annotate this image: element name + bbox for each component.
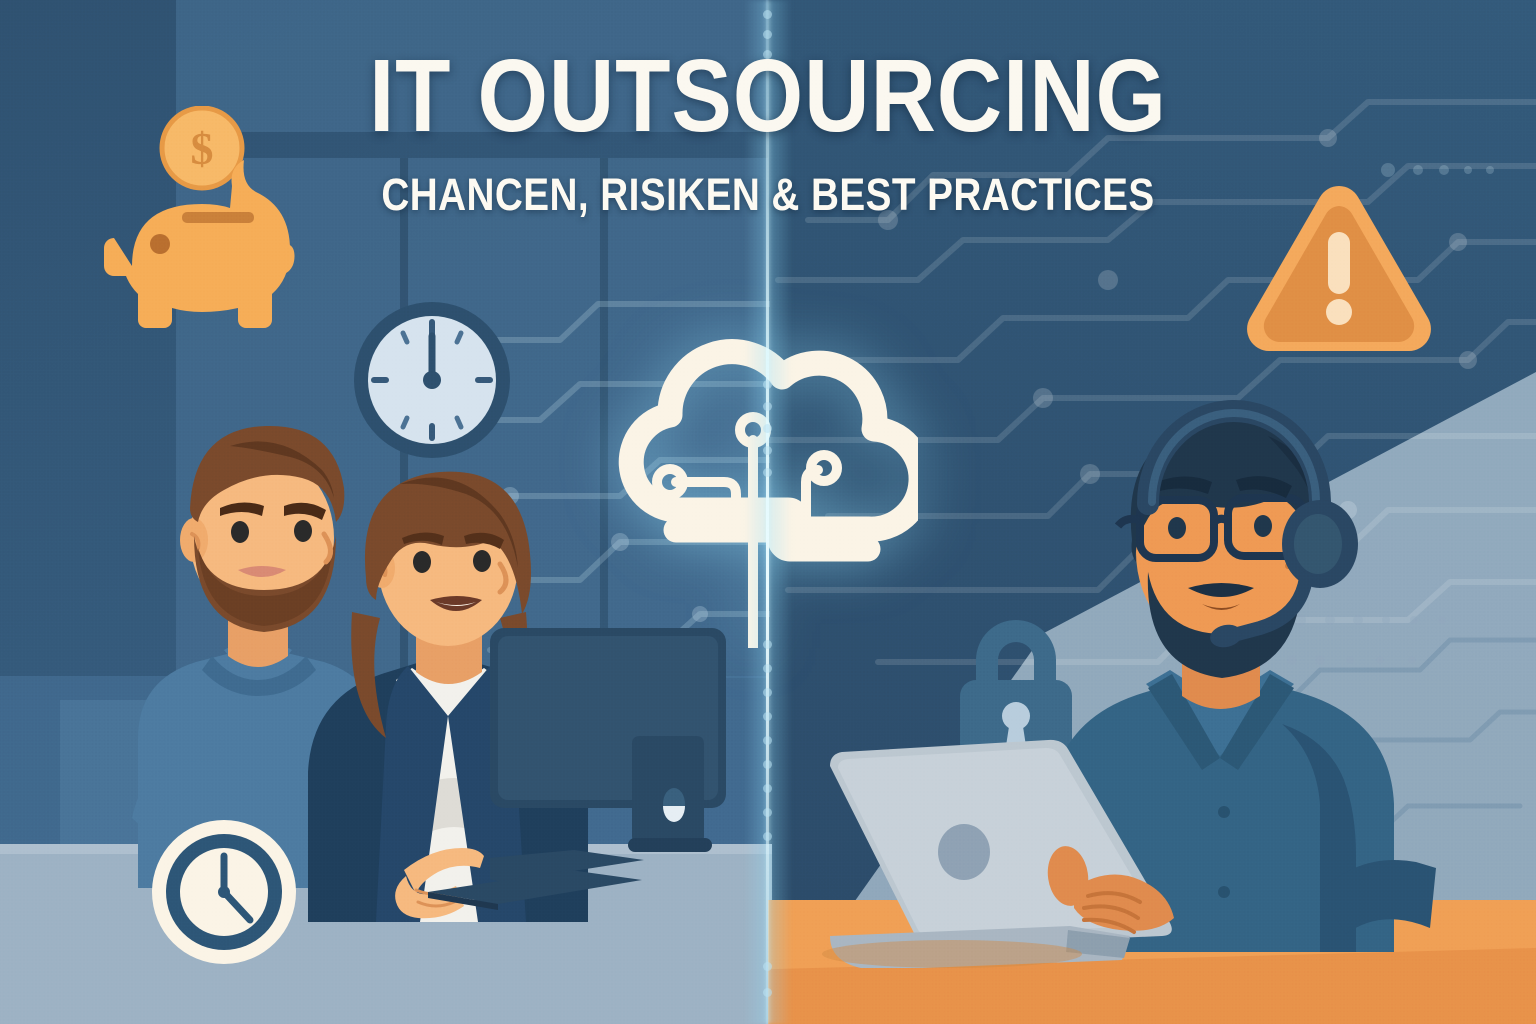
page-title: IT OUTSOURCING	[92, 44, 1444, 147]
desk-clock-icon	[150, 818, 298, 966]
warning-exclamation-dot	[1326, 299, 1352, 325]
page-subtitle: CHANCEN, RISIKEN & BEST PRACTICES	[108, 169, 1429, 221]
keyboard-left	[420, 852, 650, 912]
warning-exclamation-bar	[1328, 232, 1350, 294]
banner-image: $	[0, 0, 1536, 1024]
title-block: IT OUTSOURCING CHANCEN, RISIKEN & BEST P…	[0, 44, 1536, 221]
silver-laptop	[812, 738, 1232, 968]
